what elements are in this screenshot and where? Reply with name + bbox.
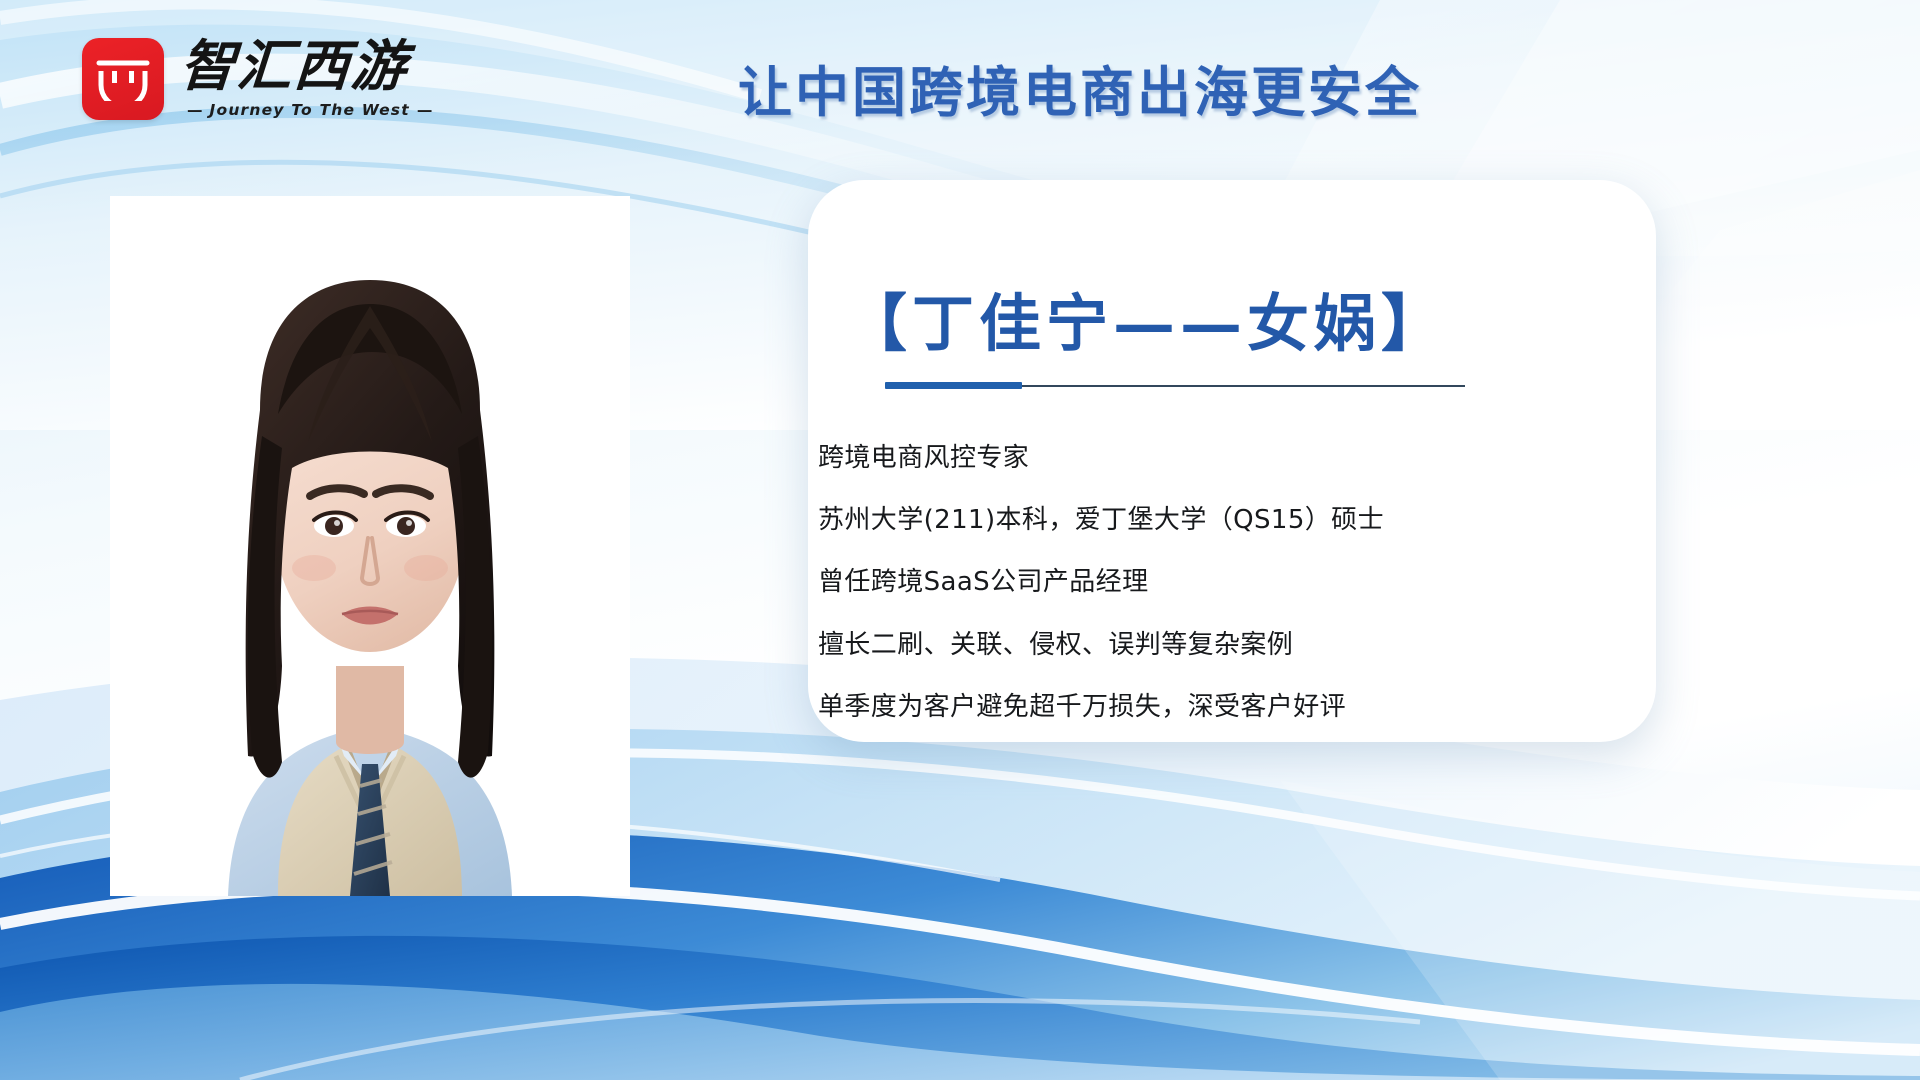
bio-line: 擅长二刷、关联、侵权、误判等复杂案例 <box>818 630 1518 661</box>
slide-header: 智汇西游 —Journey To The West— 让中国跨境电商出海更安全 <box>0 0 1920 170</box>
title-divider <box>885 382 1465 389</box>
slide-root: 智汇西游 —Journey To The West— 让中国跨境电商出海更安全 <box>0 0 1920 1080</box>
portrait-image <box>110 196 630 896</box>
instructor-portrait <box>110 196 630 896</box>
bio-line: 跨境电商风控专家 <box>818 443 1518 474</box>
bio-line: 曾任跨境SaaS公司产品经理 <box>818 567 1518 598</box>
instructor-name-title: 【丁佳宁——女娲】 <box>845 273 1625 363</box>
divider-accent-segment <box>885 382 1022 389</box>
divider-line-segment <box>1022 385 1465 387</box>
instructor-bio-list: 跨境电商风控专家 苏州大学(211)本科，爱丁堡大学（QS15）硕士 曾任跨境S… <box>818 443 1518 723</box>
bio-line: 苏州大学(211)本科，爱丁堡大学（QS15）硕士 <box>818 505 1518 536</box>
header-title: 让中国跨境电商出海更安全 <box>0 48 1920 127</box>
bio-line: 单季度为客户避免超千万损失，深受客户好评 <box>818 692 1518 723</box>
